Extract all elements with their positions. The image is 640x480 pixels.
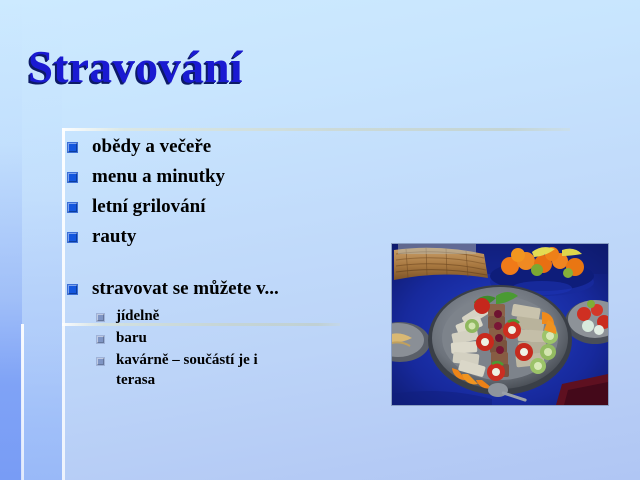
horizontal-accent-line-top: [62, 128, 570, 131]
list-item: baru: [96, 328, 382, 348]
presentation-slide: Stravování obědy a večeře menu a minutky…: [0, 0, 640, 480]
sub-list-item-label: jídelně: [116, 306, 159, 326]
list-item: kavárně – součástí je i terasa: [96, 350, 382, 390]
slide-title: Stravování: [28, 41, 243, 93]
left-edge-band: [0, 0, 22, 480]
slide-body: obědy a večeře menu a minutky letní gril…: [62, 134, 382, 392]
list-item: stravovat se můžete v...: [62, 276, 382, 302]
list-item: menu a minutky: [62, 164, 382, 190]
sub-list-item-label: baru: [116, 328, 147, 348]
sub-list: jídelně baru kavárně – součástí je i ter…: [96, 306, 382, 390]
bullet-square-icon: [67, 172, 78, 183]
list-item: obědy a večeře: [62, 134, 382, 160]
list-item-label: menu a minutky: [92, 164, 225, 190]
list-item-label: stravovat se můžete v...: [92, 276, 279, 302]
sub-bullet-square-icon: [96, 357, 105, 366]
list-item-label: rauty: [92, 224, 136, 250]
list-item: rauty: [62, 224, 382, 250]
catering-buffet-photo: [391, 243, 609, 406]
bullet-square-icon: [67, 142, 78, 153]
list-item: jídelně: [96, 306, 382, 326]
sub-bullet-square-icon: [96, 313, 105, 322]
vertical-accent-line-lower: [21, 324, 24, 480]
list-item-label: obědy a večeře: [92, 134, 211, 160]
list-spacer: [62, 254, 382, 276]
sub-bullet-square-icon: [96, 335, 105, 344]
sub-list-item-label: kavárně – součástí je i terasa: [116, 350, 296, 390]
list-item: letní grilování: [62, 194, 382, 220]
list-item-label: letní grilování: [92, 194, 205, 220]
bullet-square-icon: [67, 202, 78, 213]
bullet-square-icon: [67, 232, 78, 243]
bullet-square-icon: [67, 284, 78, 295]
